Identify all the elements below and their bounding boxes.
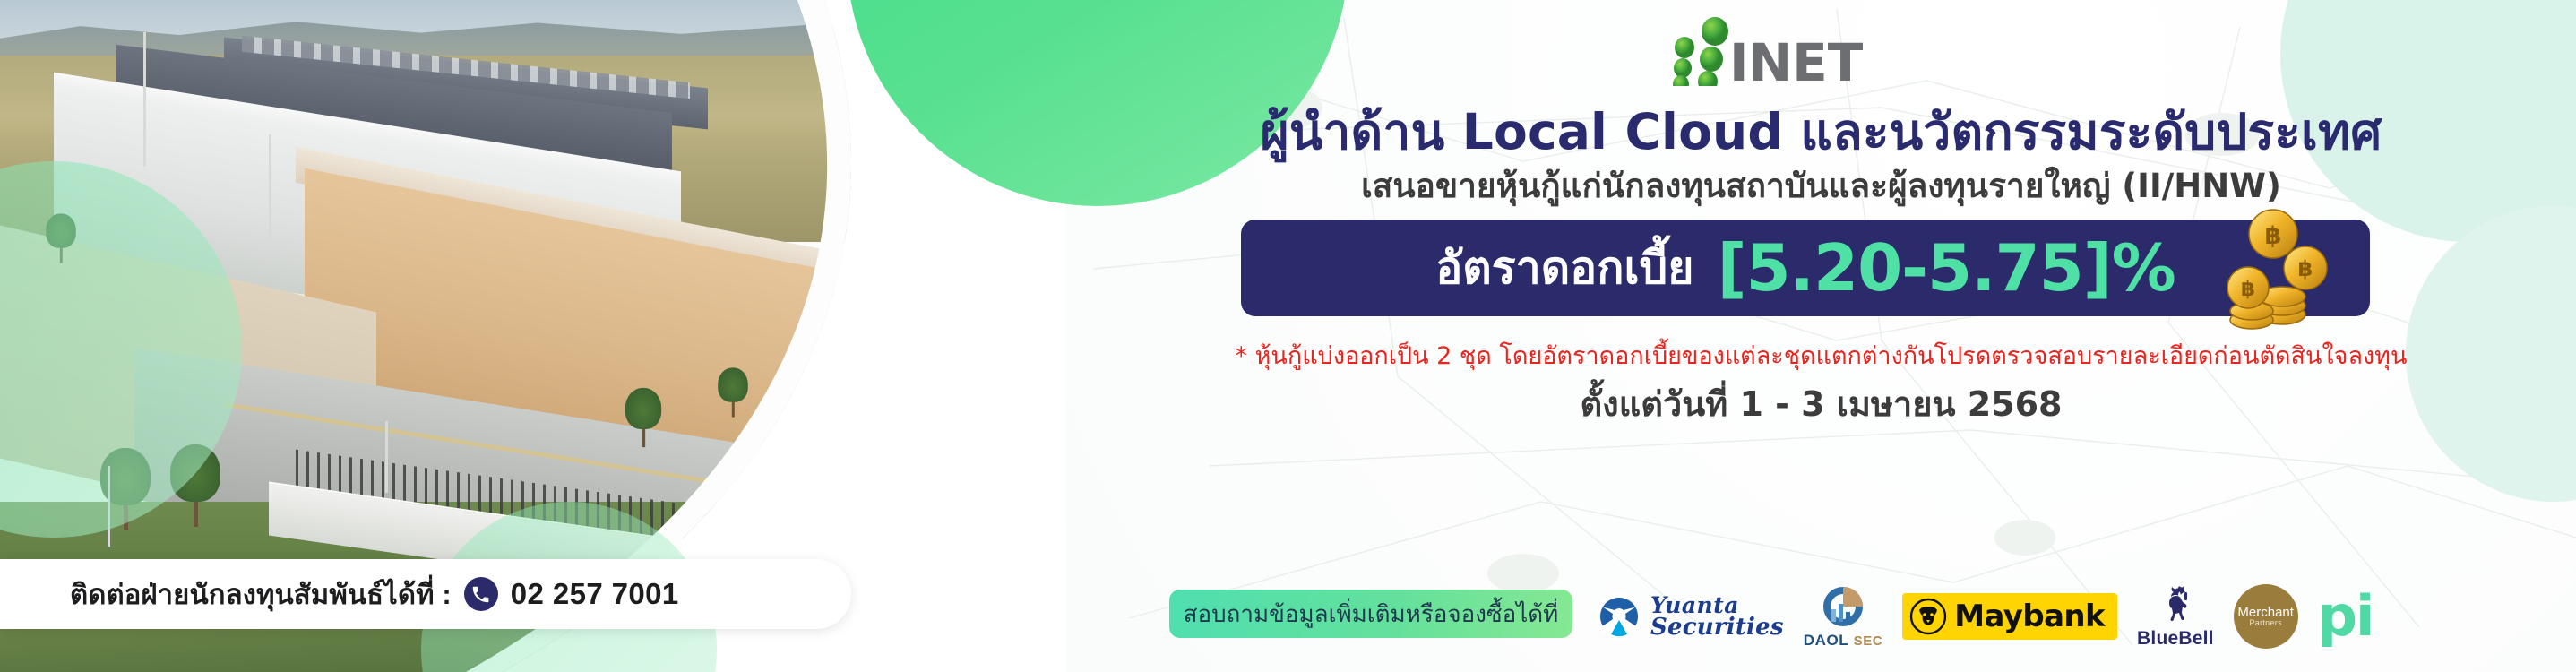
svg-text:฿: ฿ [2298, 256, 2313, 281]
partner-pi[interactable]: pi [2318, 582, 2374, 650]
phone-icon [464, 577, 498, 611]
inet-logo: INET [1615, 16, 1937, 86]
rate-label: อัตราดอกเบี้ย [1435, 233, 1693, 304]
merchant-line1: Merchant [2237, 606, 2294, 619]
bottom-row: สอบถามข้อมูลเพิ่มเติมหรือจองซื้อได้ที่ Y… [1066, 582, 2576, 650]
svg-text:INET: INET [1729, 32, 1864, 86]
maybank-wordmark: Maybank [1954, 599, 2105, 634]
bluebell-deer-icon [2155, 583, 2196, 626]
contact-label: ติดต่อฝ่ายนักลงทุนสัมพันธ์ได้ที่ : [70, 572, 452, 616]
offer-dates: ตั้งแต่วันที่ 1 - 3 เมษายน 2568 [1066, 376, 2576, 431]
daol-word1: DAOL [1804, 632, 1849, 649]
gold-coins-icon: ฿ ฿ ฿ [2216, 205, 2332, 331]
daol-word2: SEC [1854, 633, 1883, 649]
yuanta-line2: Securities [1650, 616, 1784, 639]
inet-dots-icon [1673, 17, 1728, 86]
bluebell-wordmark: BlueBell [2137, 628, 2214, 650]
daol-wordmark: DAOL SEC [1804, 632, 1883, 650]
svg-text:฿: ฿ [2265, 222, 2282, 250]
partner-daol[interactable]: DAOL SEC [1804, 582, 1883, 650]
svg-text:฿: ฿ [2241, 278, 2255, 301]
pi-logo-icon: pi [2318, 594, 2374, 639]
merchant-line2: Partners [2249, 619, 2281, 627]
contact-card[interactable]: ติดต่อฝ่ายนักลงทุนสัมพันธ์ได้ที่ : 02 25… [0, 559, 851, 629]
partner-bluebell[interactable]: BlueBell [2137, 582, 2214, 650]
disclaimer-text: * หุ้นกู้แบ่งออกเป็น 2 ชุด โดยอัตราดอกเบ… [1066, 336, 2576, 375]
partner-logos: Yuanta Securities D [1595, 581, 2545, 652]
partner-maybank[interactable]: Maybank [1902, 582, 2117, 650]
promo-banner: ติดต่อฝ่ายนักลงทุนสัมพันธ์ได้ที่ : 02 25… [0, 0, 2576, 672]
rate-value: [5.20-5.75]% [1718, 230, 2175, 306]
partner-merchant[interactable]: Merchant Partners [2234, 582, 2298, 650]
page-subtitle: เสนอขายหุ้นกู้แก่นักลงทุนสถาบันและผู้ลงท… [1066, 159, 2576, 212]
content-column: INET ผู้นำด้าน Local Cloud และนวัตกรรมระ… [1066, 0, 2576, 672]
interest-rate-box: อัตราดอกเบี้ย [5.20-5.75]% [1241, 220, 2370, 316]
daol-chart-icon [1815, 584, 1871, 629]
contact-phone-number: 02 257 7001 [511, 577, 679, 611]
maybank-tiger-icon [1909, 598, 1947, 635]
yuanta-wordmark: Yuanta Securities [1650, 595, 1784, 638]
yuanta-star-icon [1595, 592, 1643, 641]
merchant-circle-icon: Merchant Partners [2234, 584, 2298, 649]
partner-yuanta[interactable]: Yuanta Securities [1595, 582, 1784, 650]
cta-button[interactable]: สอบถามข้อมูลเพิ่มเติมหรือจองซื้อได้ที่ [1169, 590, 1572, 638]
yuanta-line1: Yuanta [1650, 595, 1784, 616]
